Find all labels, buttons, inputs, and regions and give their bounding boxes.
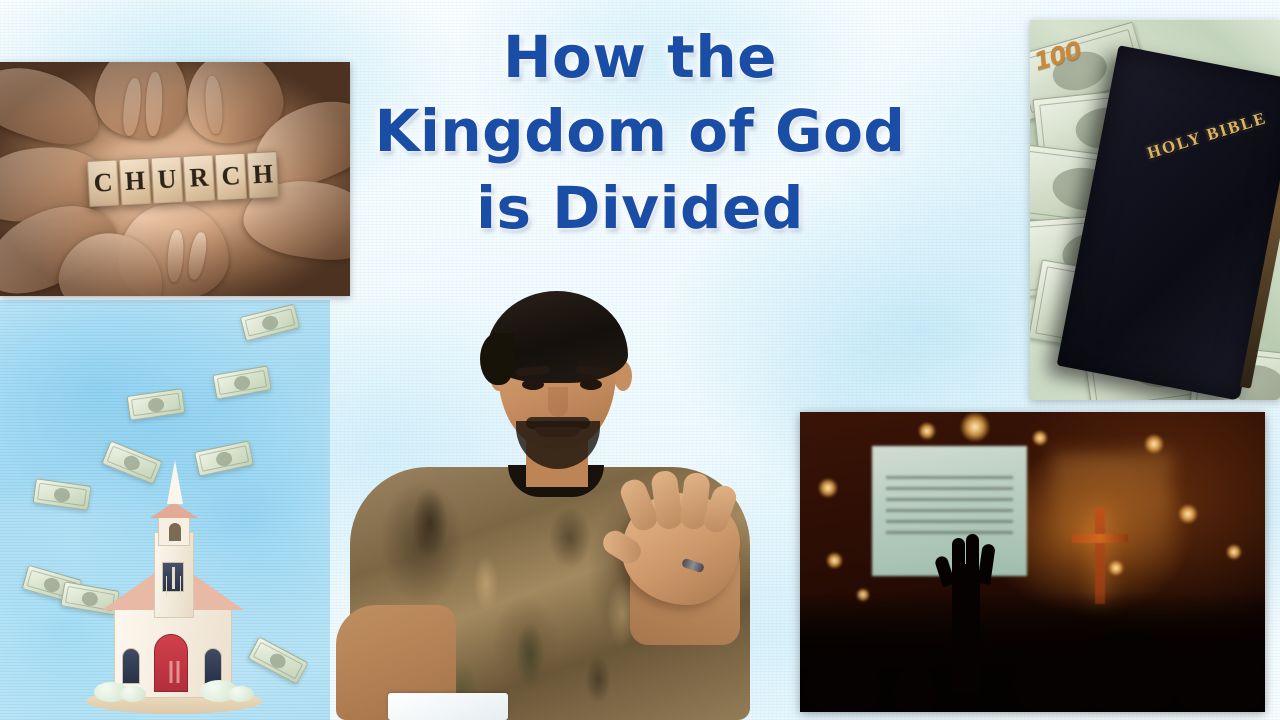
stage-light	[1108, 560, 1124, 576]
audience-head	[1082, 632, 1178, 712]
projector-screen	[872, 446, 1027, 576]
stage-light-beam	[1052, 452, 1172, 602]
church-window	[122, 648, 140, 684]
audience-head	[894, 668, 936, 712]
projected-text-lines	[886, 472, 1013, 534]
church-bush	[120, 686, 146, 702]
image-worship-service	[800, 412, 1265, 712]
image-church-money-illustration	[0, 300, 330, 720]
raised-hand-silhouette	[952, 564, 980, 694]
eye	[522, 379, 544, 390]
stage-light	[1032, 430, 1048, 446]
church-steeple-spire	[167, 460, 183, 504]
church-bush	[228, 686, 254, 702]
presenter-figure	[330, 275, 785, 720]
paper-in-hand	[388, 693, 508, 720]
audience-head	[1174, 650, 1265, 712]
image-holy-bible-money: 100 100 HOLY BIBLE	[1030, 20, 1280, 400]
bible-cover-text: HOLY BIBLE	[1145, 108, 1270, 163]
church-building	[92, 464, 252, 714]
stage-light	[1178, 504, 1198, 524]
church-belfry-cap	[150, 502, 198, 518]
finger-silhouette	[952, 538, 965, 582]
audience-head	[806, 656, 880, 712]
stage-light	[826, 552, 843, 569]
illuminated-cross	[1095, 508, 1105, 604]
image-church-hands: C H U R C H	[0, 62, 350, 296]
church-belfry	[158, 516, 190, 546]
stage-light	[818, 478, 838, 498]
church-red-door	[154, 634, 188, 692]
church-gable-window	[162, 562, 184, 592]
stage-light	[918, 422, 936, 440]
hands-vignette	[0, 62, 350, 296]
video-frame: How the Kingdom of God is Divided C H U …	[0, 0, 1280, 720]
stage-light	[1226, 544, 1242, 560]
stage-light	[960, 412, 990, 442]
church-window	[204, 648, 222, 684]
stage-light	[1144, 434, 1164, 454]
eye	[580, 379, 602, 390]
nose	[548, 387, 568, 417]
finger-silhouette	[966, 534, 979, 582]
